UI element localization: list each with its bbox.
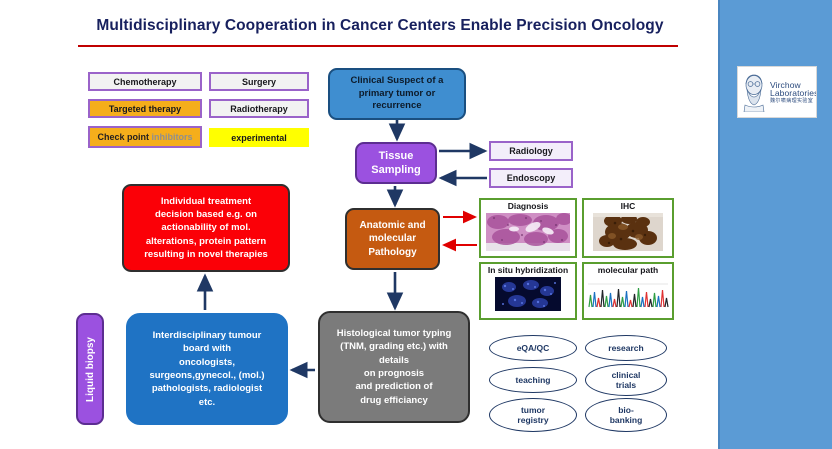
- logo-chinese-name: 魏尔啸病理实验室: [770, 99, 817, 104]
- slide-canvas: Virchow Laboratories 魏尔啸病理实验室 Multidisci…: [0, 0, 832, 449]
- therapy-box-targeted-therapy[interactable]: Targeted therapy: [88, 99, 202, 118]
- flow-box-anatomic-molecular-pathology[interactable]: Anatomic and molecular Pathology: [345, 208, 440, 270]
- flow-box-tissue-sampling[interactable]: Tissue Sampling: [355, 142, 437, 184]
- panel-diagnosis-caption: Diagnosis: [508, 202, 549, 211]
- flow-box-interdisciplinary-tumour-board[interactable]: Interdisciplinary tumour board with onco…: [126, 313, 288, 425]
- panel-molecular-path[interactable]: molecular path: [582, 262, 674, 320]
- ellipse-eqa-qc[interactable]: eQA/QC: [489, 335, 577, 361]
- therapy-box-chemotherapy[interactable]: Chemotherapy: [88, 72, 202, 91]
- checkpoint-bold-text: Check point: [97, 132, 149, 142]
- therapy-box-checkpoint-inhibitors[interactable]: Check point inhibitors: [88, 126, 202, 148]
- fish-stain-image: [495, 277, 561, 311]
- ellipse-bio-banking[interactable]: bio- banking: [585, 398, 667, 432]
- ellipse-tumor-registry[interactable]: tumor registry: [489, 398, 577, 432]
- panel-diagnosis[interactable]: Diagnosis: [479, 198, 577, 258]
- flow-box-liquid-biopsy[interactable]: Liquid biopsy: [76, 313, 104, 425]
- virchow-laboratories-logo: Virchow Laboratories 魏尔啸病理实验室: [737, 66, 817, 118]
- ellipse-clinical-trials[interactable]: clinical trials: [585, 364, 667, 396]
- flow-box-radiology[interactable]: Radiology: [489, 141, 573, 161]
- panel-ihc[interactable]: IHC: [582, 198, 674, 258]
- portrait-icon: [741, 72, 767, 112]
- ellipse-research[interactable]: research: [585, 335, 667, 361]
- flow-box-endoscopy[interactable]: Endoscopy: [489, 168, 573, 188]
- panel-molecular-path-caption: molecular path: [598, 266, 658, 275]
- checkpoint-light-text: inhibitors: [152, 132, 193, 142]
- panel-in-situ-hybridization[interactable]: In situ hybridization: [479, 262, 577, 320]
- ellipse-teaching[interactable]: teaching: [489, 367, 577, 393]
- he-stain-image: [486, 213, 570, 251]
- title-divider: [78, 45, 678, 47]
- therapy-box-surgery[interactable]: Surgery: [209, 72, 309, 91]
- flow-box-individual-treatment-decision[interactable]: Individual treatment decision based e.g.…: [122, 184, 290, 272]
- panel-ish-caption: In situ hybridization: [488, 266, 568, 275]
- flow-box-clinical-suspect[interactable]: Clinical Suspect of a primary tumor or r…: [328, 68, 466, 120]
- logo-line-2: Laboratories: [770, 89, 817, 98]
- liquid-biopsy-label: Liquid biopsy: [85, 337, 96, 402]
- page-title: Multidisciplinary Cooperation in Cancer …: [60, 17, 700, 35]
- ihc-stain-image: [593, 213, 663, 251]
- therapy-box-experimental[interactable]: experimental: [209, 128, 309, 147]
- chromatogram-image: [586, 277, 670, 309]
- flow-box-histological-tumor-typing[interactable]: Histological tumor typing (TNM, grading …: [318, 311, 470, 423]
- panel-ihc-caption: IHC: [621, 202, 636, 211]
- therapy-box-radiotherapy[interactable]: Radiotherapy: [209, 99, 309, 118]
